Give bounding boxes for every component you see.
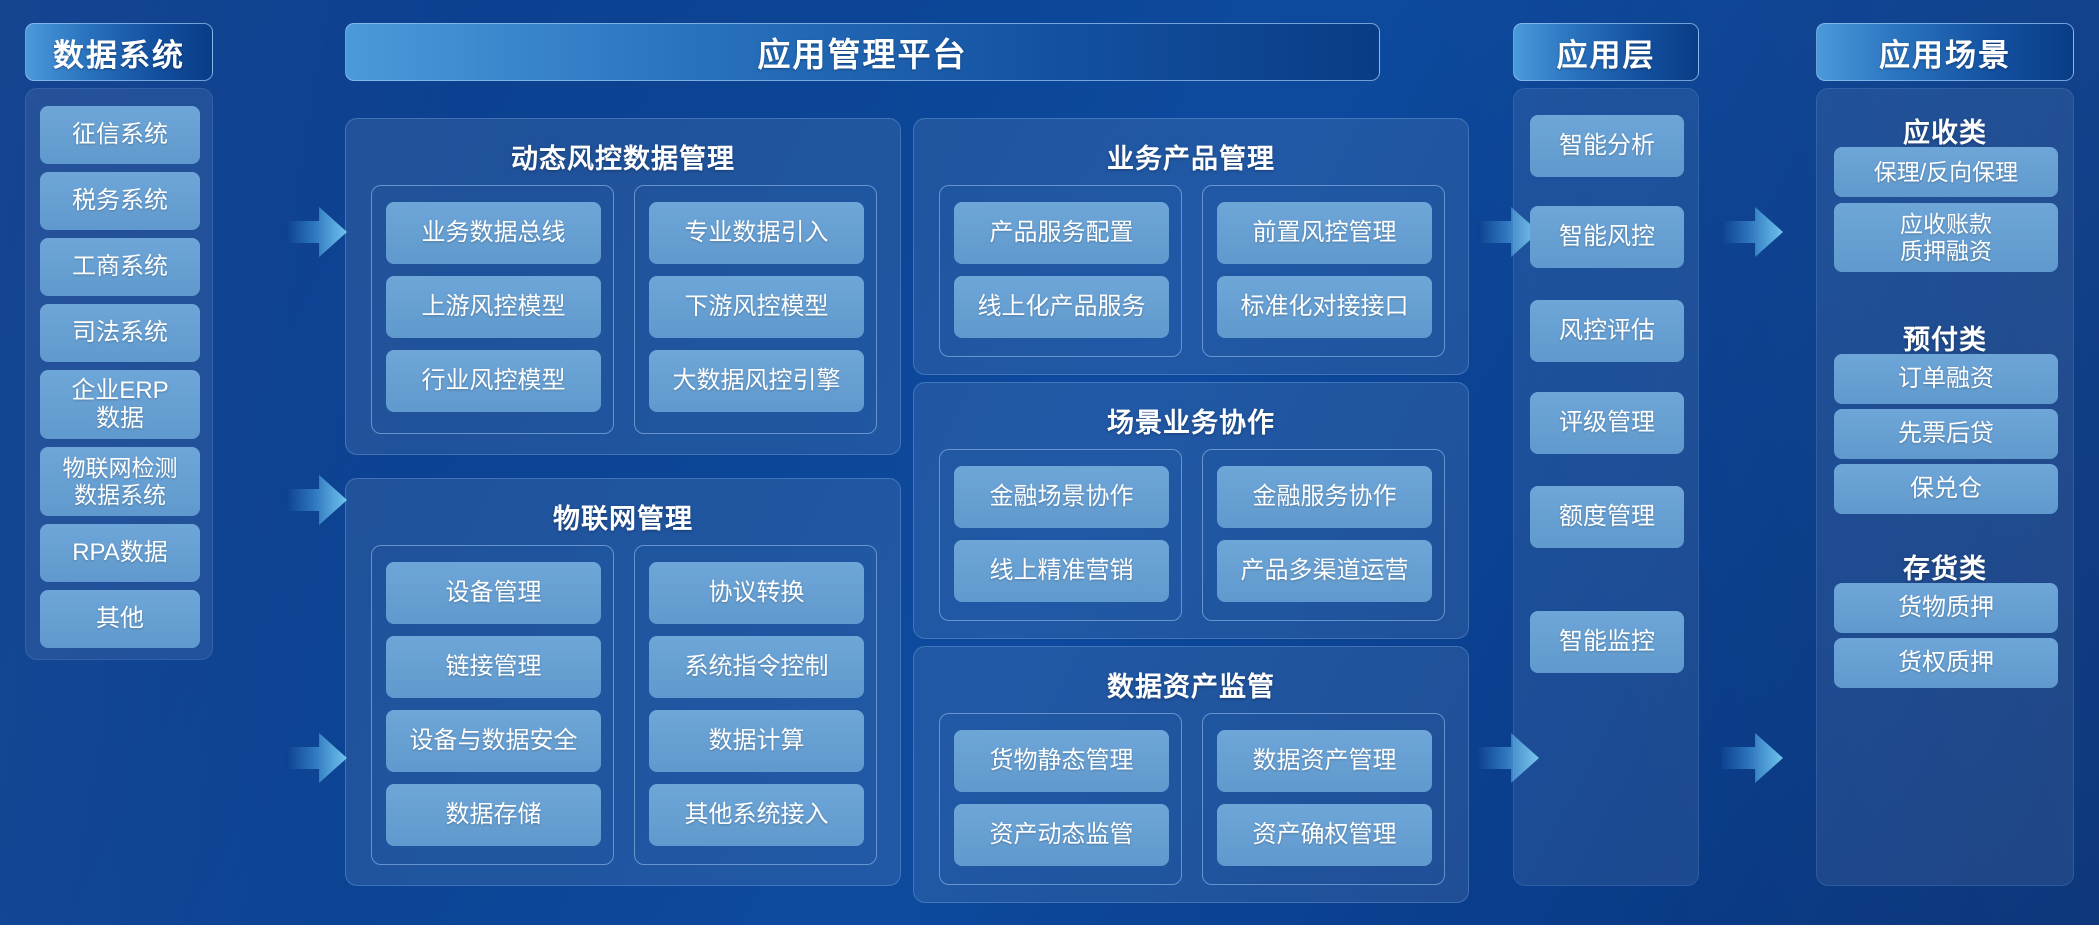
subgroup-left: 金融场景协作 线上精准营销 — [939, 449, 1182, 621]
list-item[interactable]: 保理/反向保理 — [1834, 147, 2058, 197]
list-item[interactable]: 业务数据总线 — [386, 202, 601, 264]
list-item[interactable]: 线上精准营销 — [954, 540, 1169, 602]
panel-title: 物联网管理 — [346, 497, 900, 536]
subgroup-left: 货物静态管理 资产动态监管 — [939, 713, 1182, 885]
list-item[interactable]: 智能风控 — [1530, 206, 1684, 268]
list-item[interactable]: 货物质押 — [1834, 583, 2058, 633]
list-item[interactable]: 系统指令控制 — [649, 636, 864, 698]
list-item[interactable]: 链接管理 — [386, 636, 601, 698]
flow-arrow-icon — [285, 207, 347, 257]
list-item[interactable]: 风控评估 — [1530, 300, 1684, 362]
column-header-application-scenarios: 应用场景 — [1816, 23, 2074, 81]
subgroup-right: 协议转换 系统指令控制 数据计算 其他系统接入 — [634, 545, 877, 865]
list-item[interactable]: 其他系统接入 — [649, 784, 864, 846]
column-header-application-layer: 应用层 — [1513, 23, 1699, 81]
list-item[interactable]: 货物静态管理 — [954, 730, 1169, 792]
list-item[interactable]: RPA数据 — [40, 524, 200, 582]
list-item[interactable]: 前置风控管理 — [1217, 202, 1432, 264]
column-body-application-layer: 智能分析 智能风控 风控评估 评级管理 额度管理 智能监控 — [1513, 88, 1699, 886]
subgroup-right: 专业数据引入 下游风控模型 大数据风控引擎 — [634, 185, 877, 434]
subgroup-right: 金融服务协作 产品多渠道运营 — [1202, 449, 1445, 621]
list-item[interactable]: 企业ERP 数据 — [40, 370, 200, 439]
list-item[interactable]: 司法系统 — [40, 304, 200, 362]
architecture-diagram: 数据系统 征信系统 税务系统 工商系统 司法系统 企业ERP 数据 物联网检测 … — [0, 0, 2099, 925]
list-item[interactable]: 税务系统 — [40, 172, 200, 230]
list-item[interactable]: 金融服务协作 — [1217, 466, 1432, 528]
list-item[interactable]: 额度管理 — [1530, 486, 1684, 548]
list-item[interactable]: 工商系统 — [40, 238, 200, 296]
subgroup-right: 数据资产管理 资产确权管理 — [1202, 713, 1445, 885]
list-item[interactable]: 订单融资 — [1834, 354, 2058, 404]
group-title-receivables: 应收类 — [1817, 111, 2073, 150]
flow-arrow-icon — [285, 733, 347, 783]
list-item[interactable]: 数据资产管理 — [1217, 730, 1432, 792]
panel-title: 数据资产监管 — [914, 665, 1468, 704]
list-item[interactable]: 大数据风控引擎 — [649, 350, 864, 412]
list-item[interactable]: 设备管理 — [386, 562, 601, 624]
list-item[interactable]: 保兑仓 — [1834, 464, 2058, 514]
subgroup-left: 产品服务配置 线上化产品服务 — [939, 185, 1182, 357]
panel-title: 场景业务协作 — [914, 401, 1468, 440]
list-item[interactable]: 物联网检测 数据系统 — [40, 447, 200, 516]
list-item[interactable]: 应收账款 质押融资 — [1834, 203, 2058, 272]
column-body-application-scenarios: 应收类 保理/反向保理 应收账款 质押融资 预付类 订单融资 先票后贷 保兑仓 … — [1816, 88, 2074, 886]
panel-iot-management: 物联网管理 设备管理 链接管理 设备与数据安全 数据存储 协议转换 系统指令控制… — [345, 478, 901, 886]
list-item[interactable]: 金融场景协作 — [954, 466, 1169, 528]
column-header-platform: 应用管理平台 — [345, 23, 1380, 81]
subgroup-left: 设备管理 链接管理 设备与数据安全 数据存储 — [371, 545, 614, 865]
panel-data-asset-supervision: 数据资产监管 货物静态管理 资产动态监管 数据资产管理 资产确权管理 — [913, 646, 1469, 903]
list-item[interactable]: 智能监控 — [1530, 611, 1684, 673]
list-item[interactable]: 智能分析 — [1530, 115, 1684, 177]
panel-dynamic-risk-data-management: 动态风控数据管理 业务数据总线 上游风控模型 行业风控模型 专业数据引入 下游风… — [345, 118, 901, 455]
list-item[interactable]: 数据计算 — [649, 710, 864, 772]
list-item[interactable]: 数据存储 — [386, 784, 601, 846]
list-item[interactable]: 货权质押 — [1834, 638, 2058, 688]
panel-business-product-management: 业务产品管理 产品服务配置 线上化产品服务 前置风控管理 标准化对接接口 — [913, 118, 1469, 375]
list-item[interactable]: 设备与数据安全 — [386, 710, 601, 772]
list-item[interactable]: 标准化对接接口 — [1217, 276, 1432, 338]
flow-arrow-icon — [1721, 733, 1783, 783]
list-item[interactable]: 评级管理 — [1530, 392, 1684, 454]
list-item[interactable]: 其他 — [40, 590, 200, 648]
list-item[interactable]: 下游风控模型 — [649, 276, 864, 338]
subgroup-left: 业务数据总线 上游风控模型 行业风控模型 — [371, 185, 614, 434]
panel-scenario-business-collaboration: 场景业务协作 金融场景协作 线上精准营销 金融服务协作 产品多渠道运营 — [913, 382, 1469, 639]
list-item[interactable]: 产品服务配置 — [954, 202, 1169, 264]
list-item[interactable]: 协议转换 — [649, 562, 864, 624]
column-header-data-systems: 数据系统 — [25, 23, 213, 81]
panel-title: 业务产品管理 — [914, 137, 1468, 176]
list-item[interactable]: 资产确权管理 — [1217, 804, 1432, 866]
list-item[interactable]: 资产动态监管 — [954, 804, 1169, 866]
list-item[interactable]: 线上化产品服务 — [954, 276, 1169, 338]
group-title-inventory: 存货类 — [1817, 547, 2073, 586]
flow-arrow-icon — [1721, 207, 1783, 257]
group-title-prepayment: 预付类 — [1817, 318, 2073, 357]
list-item[interactable]: 先票后贷 — [1834, 409, 2058, 459]
list-item[interactable]: 征信系统 — [40, 106, 200, 164]
list-item[interactable]: 上游风控模型 — [386, 276, 601, 338]
flow-arrow-icon — [285, 475, 347, 525]
list-item[interactable]: 专业数据引入 — [649, 202, 864, 264]
subgroup-right: 前置风控管理 标准化对接接口 — [1202, 185, 1445, 357]
list-item[interactable]: 产品多渠道运营 — [1217, 540, 1432, 602]
column-body-data-systems: 征信系统 税务系统 工商系统 司法系统 企业ERP 数据 物联网检测 数据系统 … — [25, 88, 213, 660]
list-item[interactable]: 行业风控模型 — [386, 350, 601, 412]
panel-title: 动态风控数据管理 — [346, 137, 900, 176]
